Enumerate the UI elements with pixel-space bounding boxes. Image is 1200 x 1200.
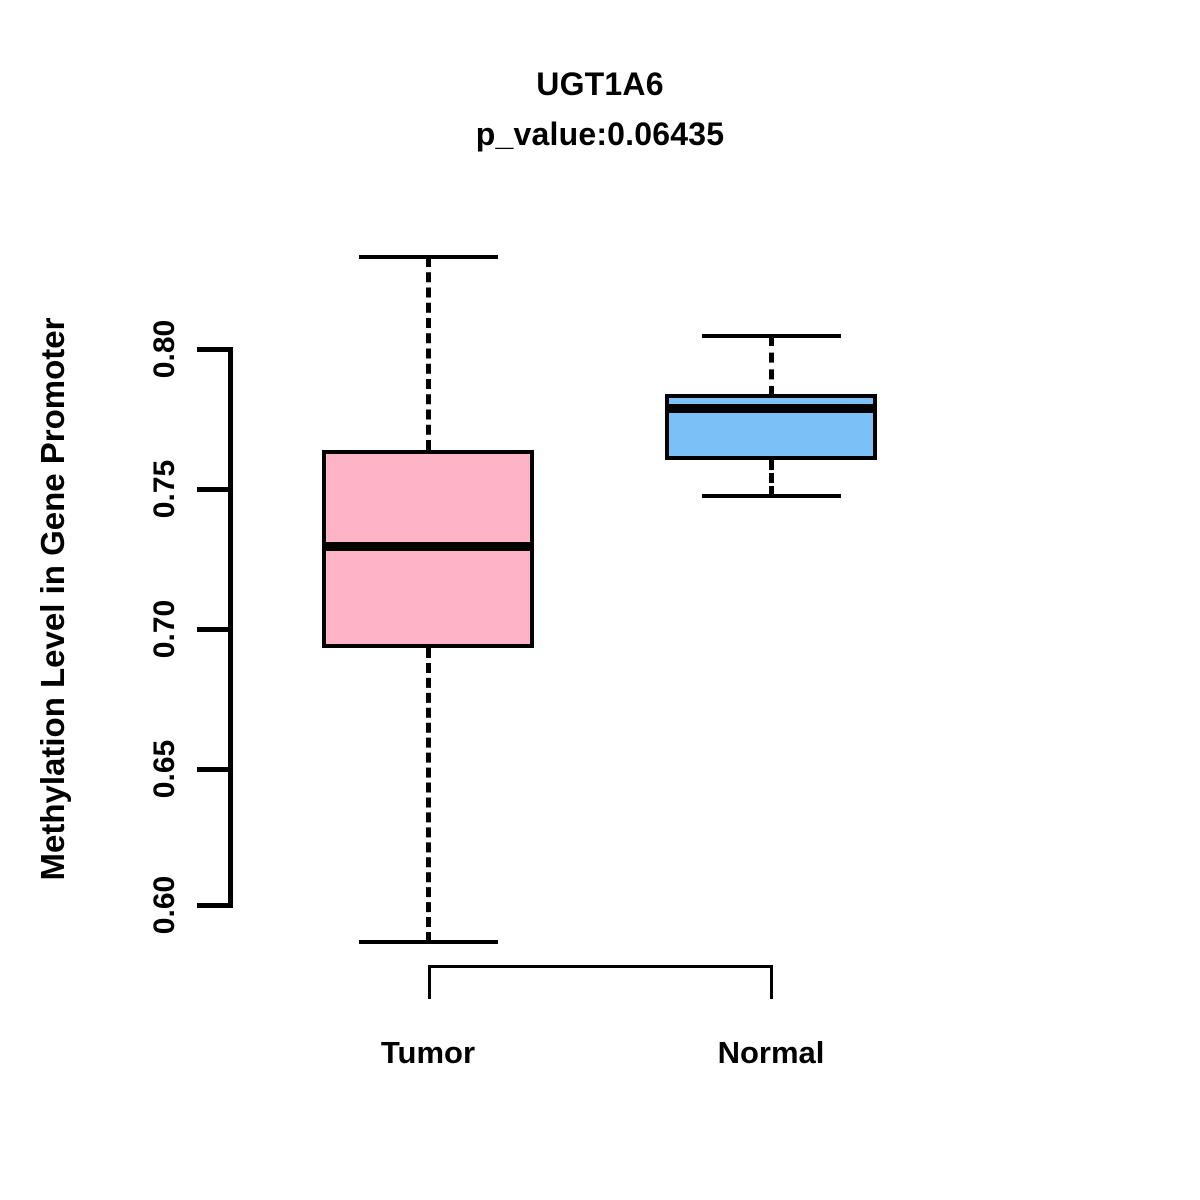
chart-subtitle: p_value:0.06435 — [0, 118, 1200, 150]
normal-lower-whisker-line — [769, 460, 774, 496]
y-axis-label-0-65: 0.65 — [148, 709, 182, 829]
x-axis-bracket-leg-normal — [770, 965, 773, 999]
y-axis-title: Methylation Level in Gene Promoter — [34, 179, 72, 1019]
y-axis-tick-0-80 — [197, 347, 229, 352]
normal-median-line — [665, 404, 877, 413]
x-axis-bracket-leg-tumor — [428, 965, 431, 999]
y-axis-label-0-60: 0.60 — [148, 845, 182, 965]
tumor-median-line — [322, 542, 534, 551]
y-axis-tick-0-70 — [197, 627, 229, 632]
tumor-lower-whisker-cap — [359, 940, 498, 944]
tumor-upper-whisker-line — [426, 257, 431, 450]
x-axis-label-tumor: Tumor — [278, 1035, 578, 1071]
y-axis-label-0-70: 0.70 — [148, 569, 182, 689]
page-title: UGT1A6 — [0, 68, 1200, 100]
y-axis-label-0-75: 0.75 — [148, 429, 182, 549]
boxplot-figure: UGT1A6 p_value:0.06435 Methylation Level… — [0, 0, 1200, 1200]
y-axis-tick-0-60 — [197, 903, 229, 908]
y-axis-tick-0-65 — [197, 767, 229, 772]
normal-lower-whisker-cap — [702, 494, 841, 498]
y-axis-label-0-80: 0.80 — [148, 289, 182, 409]
y-axis-tick-0-75 — [197, 487, 229, 492]
normal-upper-whisker-line — [769, 336, 774, 396]
x-axis-label-normal: Normal — [621, 1035, 921, 1071]
x-axis-bracket — [428, 965, 773, 968]
tumor-lower-whisker-line — [426, 648, 431, 942]
